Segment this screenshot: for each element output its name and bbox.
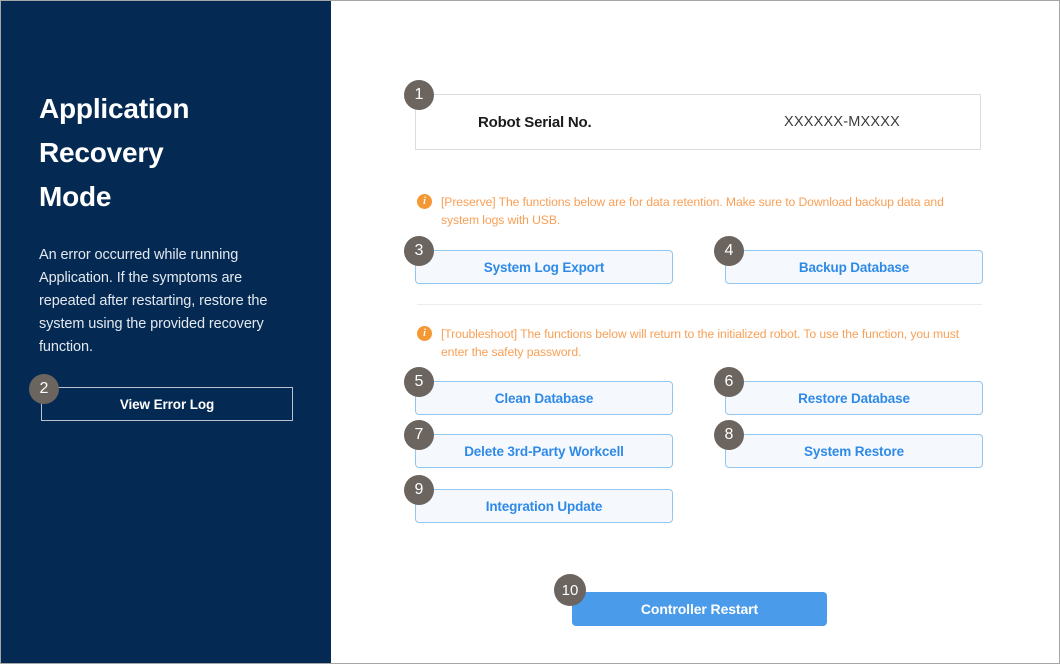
page-title-line-1: Application xyxy=(39,87,299,131)
troubleshoot-note: i [Troubleshoot] The functions below wil… xyxy=(417,325,977,361)
robot-serial-label: Robot Serial No. xyxy=(478,114,591,131)
error-description-text: An error occurred while running Applicat… xyxy=(39,244,289,359)
step-badge-4: 4 xyxy=(714,236,744,266)
page-title: Application Recovery Mode xyxy=(39,87,299,219)
delete-third-party-workcell-label: Delete 3rd-Party Workcell xyxy=(464,444,624,459)
info-icon: i xyxy=(417,194,432,209)
page-title-line-3: Mode xyxy=(39,175,299,219)
robot-serial-box: Robot Serial No. XXXXXX-MXXXX xyxy=(415,94,981,150)
troubleshoot-note-text: [Troubleshoot] The functions below will … xyxy=(441,325,977,361)
step-badge-5: 5 xyxy=(404,367,434,397)
system-restore-label: System Restore xyxy=(804,444,904,459)
restore-database-button[interactable]: Restore Database xyxy=(725,381,983,415)
step-badge-6: 6 xyxy=(714,367,744,397)
info-icon: i xyxy=(417,326,432,341)
restore-database-label: Restore Database xyxy=(798,391,910,406)
view-error-log-label: View Error Log xyxy=(120,397,214,412)
clean-database-label: Clean Database xyxy=(495,391,593,406)
page-title-line-2: Recovery xyxy=(39,131,299,175)
backup-database-button[interactable]: Backup Database xyxy=(725,250,983,284)
step-badge-8: 8 xyxy=(714,420,744,450)
system-log-export-button[interactable]: System Log Export xyxy=(415,250,673,284)
step-badge-2: 2 xyxy=(29,374,59,404)
preserve-note: i [Preserve] The functions below are for… xyxy=(417,193,977,229)
delete-third-party-workcell-button[interactable]: Delete 3rd-Party Workcell xyxy=(415,434,673,468)
step-badge-9: 9 xyxy=(404,475,434,505)
step-badge-1: 1 xyxy=(404,80,434,110)
section-divider xyxy=(417,304,982,305)
preserve-note-text: [Preserve] The functions below are for d… xyxy=(441,193,977,229)
integration-update-button[interactable]: Integration Update xyxy=(415,489,673,523)
backup-database-label: Backup Database xyxy=(799,260,909,275)
robot-serial-value: XXXXXX-MXXXX xyxy=(784,114,900,130)
controller-restart-button[interactable]: Controller Restart xyxy=(572,592,827,626)
view-error-log-button[interactable]: View Error Log xyxy=(41,387,293,421)
main-panel: 1 Robot Serial No. XXXXXX-MXXXX i [Prese… xyxy=(332,1,1059,663)
controller-restart-label: Controller Restart xyxy=(641,601,758,617)
sidebar-panel: Application Recovery Mode An error occur… xyxy=(1,1,331,663)
clean-database-button[interactable]: Clean Database xyxy=(415,381,673,415)
step-badge-7: 7 xyxy=(404,420,434,450)
system-log-export-label: System Log Export xyxy=(484,260,604,275)
system-restore-button[interactable]: System Restore xyxy=(725,434,983,468)
step-badge-10: 10 xyxy=(554,574,586,606)
recovery-mode-screen: Application Recovery Mode An error occur… xyxy=(0,0,1060,664)
integration-update-label: Integration Update xyxy=(486,499,603,514)
step-badge-3: 3 xyxy=(404,236,434,266)
